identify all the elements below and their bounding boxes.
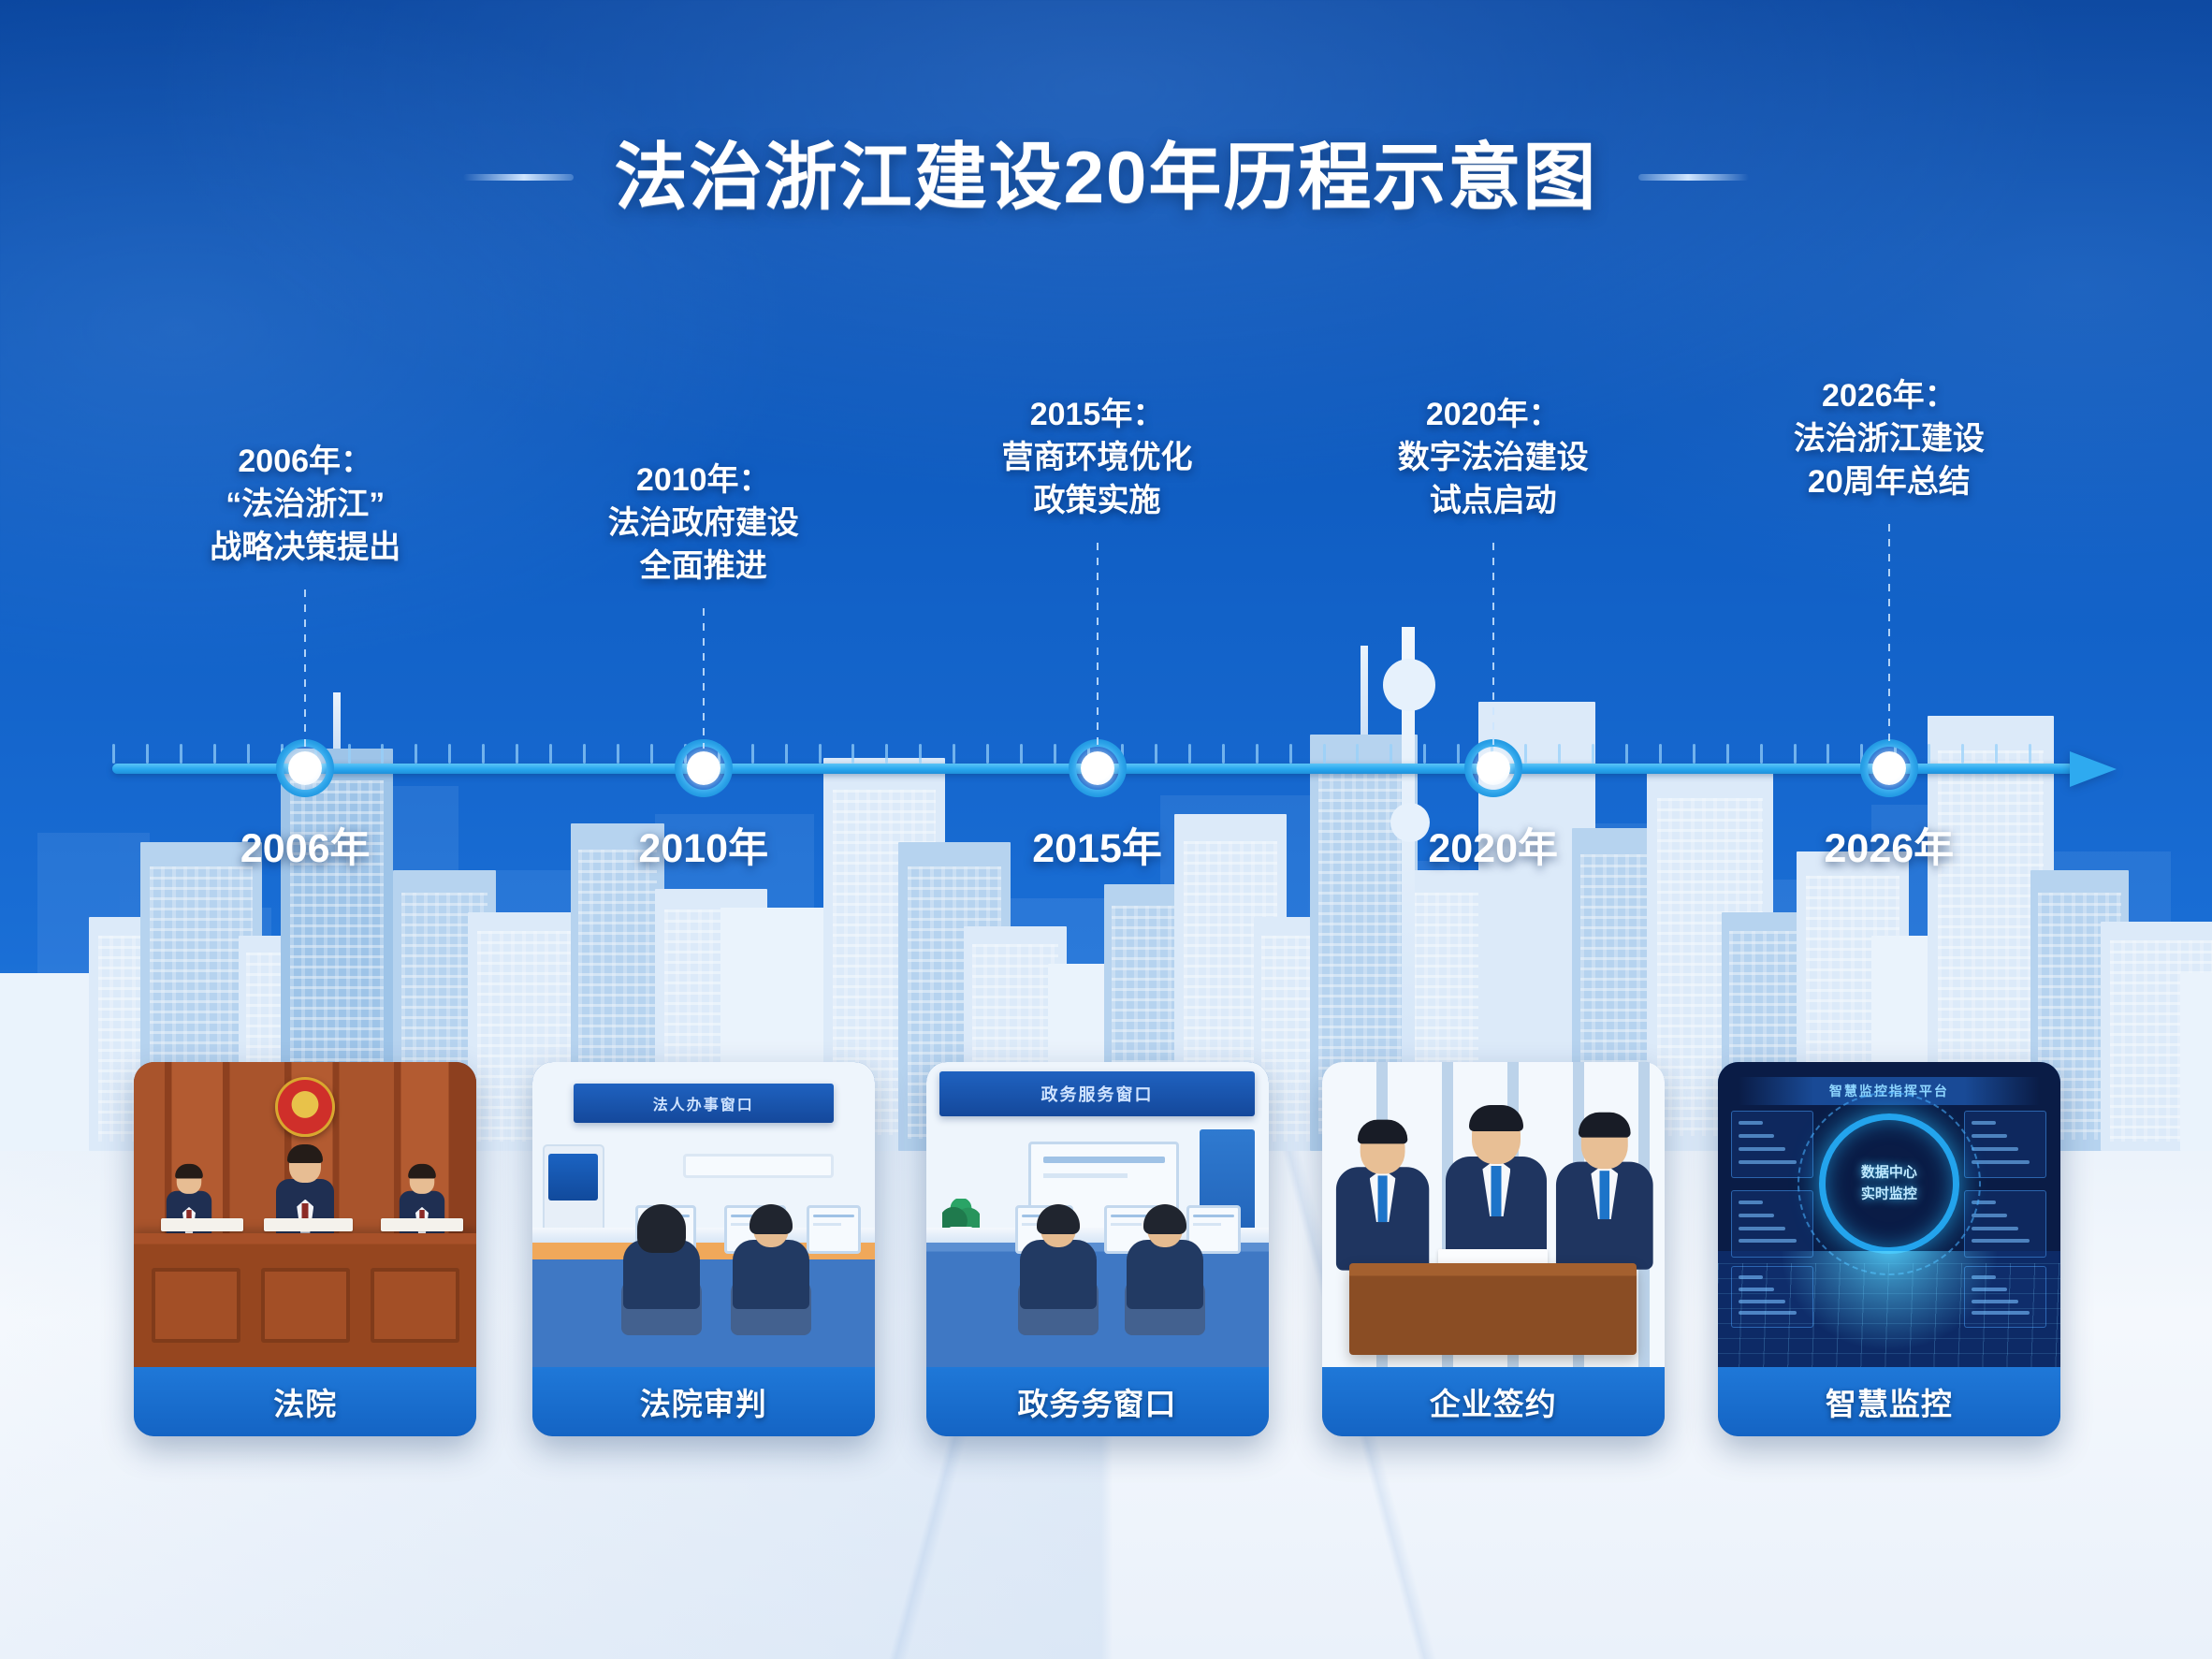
staff-hair xyxy=(1037,1204,1080,1234)
card-caption: 法院 xyxy=(134,1367,476,1436)
service-counter xyxy=(532,1239,875,1367)
seated-staff-figure xyxy=(1125,1208,1205,1348)
judge-hair xyxy=(287,1144,323,1163)
page-header: 法治浙江建设20年历程示意图 xyxy=(0,140,2212,213)
judge-bench xyxy=(134,1233,476,1367)
hall-banner-sign: 政务服务窗口 xyxy=(939,1071,1255,1116)
card-caption: 法院审判 xyxy=(532,1367,875,1436)
milestone-callout-line: 试点启动 xyxy=(1398,479,1589,522)
milestone-stem-2010 xyxy=(703,608,705,749)
card-image: 法人办事窗口 xyxy=(532,1062,875,1367)
milestone-callout-line: 2015年： xyxy=(1002,393,1193,436)
national-emblem-icon xyxy=(275,1077,335,1137)
seated-staff-figure xyxy=(1018,1208,1099,1348)
milestone-callout-line: 政策实施 xyxy=(1002,479,1193,522)
exec-tie xyxy=(1599,1171,1609,1219)
exec-hair xyxy=(1579,1113,1631,1138)
milestone-callout-line: “法治浙江” xyxy=(210,483,400,526)
card-image: 政务服务窗口 xyxy=(926,1062,1269,1367)
exec-hair xyxy=(1358,1120,1407,1144)
card-caption: 智慧监控 xyxy=(1718,1367,2060,1436)
infographic-canvas: 法治浙江建设20年历程示意图 2006年：“法治浙江”战略决策提出2010年：法… xyxy=(0,0,2212,1659)
staff-hair xyxy=(637,1204,686,1253)
year-label-2026: 2026年 xyxy=(1825,816,1955,874)
notice-board xyxy=(683,1154,834,1178)
milestone-callout-line: 2020年： xyxy=(1398,393,1589,436)
milestone-callout-line: 20周年总结 xyxy=(1794,460,1985,503)
year-label-2006: 2006年 xyxy=(240,816,371,874)
milestone-callout-line: 战略决策提出 xyxy=(210,526,400,569)
judge-hair xyxy=(408,1163,436,1178)
staff-hair xyxy=(1143,1204,1186,1234)
card-image xyxy=(1322,1062,1665,1367)
milestone-callout-line: 2010年： xyxy=(608,458,799,502)
milestone-callout-2020: 2020年：数字法治建设试点启动 xyxy=(1398,393,1589,523)
year-label-2010: 2010年 xyxy=(638,816,768,874)
hud-label-line1: 数据中心 xyxy=(1861,1163,1917,1185)
timeline-node-dot-icon xyxy=(1081,751,1114,785)
exec-tie xyxy=(1378,1176,1388,1223)
milestone-stem-2020 xyxy=(1492,543,1494,749)
exec-hair xyxy=(1469,1105,1523,1131)
judge-hair xyxy=(175,1163,203,1178)
staff-torso xyxy=(1020,1240,1097,1309)
milestone-callout-2026: 2026年：法治浙江建设20周年总结 xyxy=(1794,374,1985,504)
kiosk-screen xyxy=(548,1154,598,1201)
year-labels: 2006年2010年2015年2020年2026年 xyxy=(0,816,2212,881)
milestone-callout-line: 2006年： xyxy=(210,440,400,483)
photo-card-4[interactable]: 企业签约 xyxy=(1322,1062,1665,1436)
card-image: 智慧监控指挥平台数据中心实时监控 xyxy=(1718,1062,2060,1367)
timeline-node-dot-icon xyxy=(1872,751,1906,785)
milestone-callout-2006: 2006年：“法治浙江”战略决策提出 xyxy=(210,440,400,570)
timeline-node-dot-icon xyxy=(288,751,322,785)
plant-leaves xyxy=(942,1199,980,1230)
milestone-callout-line: 数字法治建设 xyxy=(1398,436,1589,479)
exec-tie xyxy=(1492,1166,1502,1216)
staff-hair xyxy=(749,1204,793,1234)
photo-card-row: 法院法人办事窗口法院审判政务服务窗口政务务窗口企业签约智慧监控指挥平台数据中心实… xyxy=(0,1062,2212,1455)
card-caption: 企业签约 xyxy=(1322,1367,1665,1436)
photo-card-1[interactable]: 法院 xyxy=(134,1062,476,1436)
desk-monitor xyxy=(807,1205,862,1254)
milestone-callout-line: 2026年： xyxy=(1794,374,1985,417)
seated-staff-figure xyxy=(731,1208,811,1348)
card-caption: 政务务窗口 xyxy=(926,1367,1269,1436)
milestone-callout-line: 全面推进 xyxy=(608,545,799,588)
title-rule-left-icon xyxy=(463,174,574,181)
timeline-axis xyxy=(0,739,2212,795)
scene-contract-signing xyxy=(1322,1062,1665,1367)
judge-nameplate xyxy=(161,1218,243,1231)
scene-smart-dashboard: 智慧监控指挥平台数据中心实时监控 xyxy=(1718,1062,2060,1367)
scene-service-hall: 政务服务窗口 xyxy=(926,1062,1269,1367)
milestone-callout-line: 营商环境优化 xyxy=(1002,436,1193,479)
hud-label-line2: 实时监控 xyxy=(1861,1184,1917,1205)
milestone-callout-line: 法治浙江建设 xyxy=(1794,417,1985,460)
hud-center-label: 数据中心实时监控 xyxy=(1861,1163,1917,1205)
milestone-callout-2010: 2010年：法治政府建设全面推进 xyxy=(608,458,799,589)
milestone-callout-line: 法治政府建设 xyxy=(608,502,799,545)
timeline-node-dot-icon xyxy=(687,751,720,785)
seated-staff-figure xyxy=(621,1208,702,1348)
dashboard-glow xyxy=(1718,1251,2060,1367)
judge-nameplate xyxy=(264,1218,353,1231)
photo-card-5[interactable]: 智慧监控指挥平台数据中心实时监控智慧监控 xyxy=(1718,1062,2060,1436)
photo-card-3[interactable]: 政务服务窗口政务务窗口 xyxy=(926,1062,1269,1436)
title-rule-right-icon xyxy=(1638,174,1749,181)
meeting-table xyxy=(1349,1263,1637,1355)
page-title: 法治浙江建设20年历程示意图 xyxy=(615,140,1598,213)
staff-torso xyxy=(1127,1240,1203,1309)
card-image xyxy=(134,1062,476,1367)
staff-torso xyxy=(733,1240,809,1309)
hall-banner-sign: 法人办事窗口 xyxy=(574,1084,834,1123)
arrow-right-icon xyxy=(2070,751,2117,787)
judge-nameplate xyxy=(381,1218,463,1231)
milestone-callout-2015: 2015年：营商环境优化政策实施 xyxy=(1002,393,1193,523)
milestone-stem-2015 xyxy=(1097,543,1099,749)
milestone-stem-2026 xyxy=(1888,524,1890,749)
scene-service-hall: 法人办事窗口 xyxy=(532,1062,875,1367)
timeline-node-dot-icon xyxy=(1477,751,1510,785)
milestone-stem-2006 xyxy=(304,589,306,749)
year-label-2015: 2015年 xyxy=(1032,816,1162,874)
year-label-2020: 2020年 xyxy=(1428,816,1558,874)
executive-figure xyxy=(1555,1117,1654,1288)
milestone-callouts: 2006年：“法治浙江”战略决策提出2010年：法治政府建设全面推进2015年：… xyxy=(0,0,2212,711)
scene-courtroom xyxy=(134,1062,476,1367)
photo-card-2[interactable]: 法人办事窗口法院审判 xyxy=(532,1062,875,1436)
